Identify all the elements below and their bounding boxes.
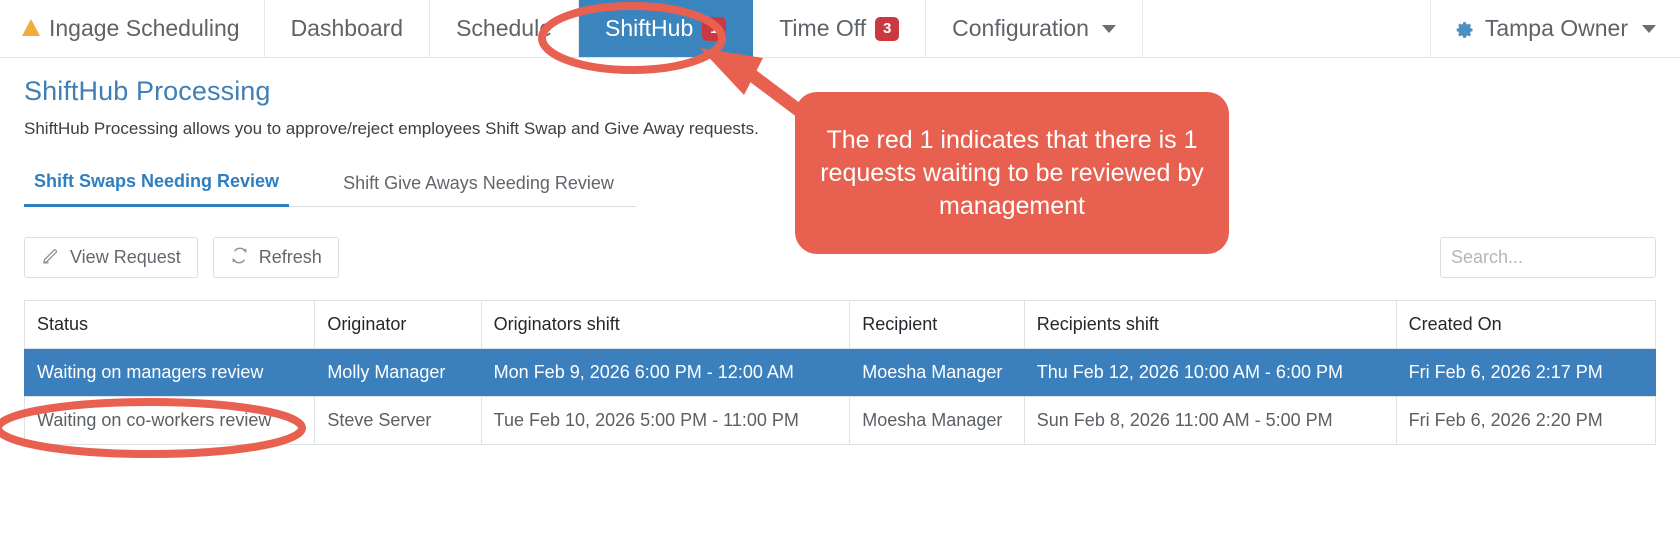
account-menu[interactable]: Tampa Owner bbox=[1431, 0, 1680, 57]
cell-originators-shift: Mon Feb 9, 2026 6:00 PM - 12:00 AM bbox=[481, 349, 850, 397]
column-header-status[interactable]: Status bbox=[25, 301, 315, 349]
cell-originator: Steve Server bbox=[315, 397, 481, 445]
pencil-icon bbox=[41, 246, 60, 270]
cell-status: Waiting on managers review bbox=[25, 349, 315, 397]
shifthub-count-badge: 1 bbox=[702, 17, 726, 41]
nav-label-shifthub: ShiftHub bbox=[605, 15, 693, 42]
nav-item-dashboard[interactable]: Dashboard bbox=[265, 0, 431, 57]
cell-created-on: Fri Feb 6, 2026 2:20 PM bbox=[1396, 397, 1655, 445]
requests-table-wrapper: Status Originator Originators shift Reci… bbox=[24, 300, 1656, 445]
navbar-spacer bbox=[1143, 0, 1431, 57]
view-request-label: View Request bbox=[70, 247, 181, 268]
cell-recipients-shift: Sun Feb 8, 2026 11:00 AM - 5:00 PM bbox=[1024, 397, 1396, 445]
top-navbar: Ingage Scheduling Dashboard Schedule Shi… bbox=[0, 0, 1680, 58]
nav-item-time-off[interactable]: Time Off 3 bbox=[753, 0, 926, 57]
table-header-row: Status Originator Originators shift Reci… bbox=[25, 301, 1656, 349]
cell-recipients-shift: Thu Feb 12, 2026 10:00 AM - 6:00 PM bbox=[1024, 349, 1396, 397]
nav-item-configuration[interactable]: Configuration bbox=[926, 0, 1143, 57]
account-label: Tampa Owner bbox=[1485, 15, 1628, 42]
chevron-down-icon bbox=[1642, 25, 1656, 33]
nav-label-configuration: Configuration bbox=[952, 15, 1089, 42]
column-header-originators-shift[interactable]: Originators shift bbox=[481, 301, 850, 349]
table-row[interactable]: Waiting on co-workers review Steve Serve… bbox=[25, 397, 1656, 445]
tab-label: Shift Give Aways Needing Review bbox=[343, 173, 614, 193]
tab-label: Shift Swaps Needing Review bbox=[34, 171, 279, 191]
page-title: ShiftHub Processing bbox=[24, 76, 1656, 107]
refresh-button[interactable]: Refresh bbox=[213, 237, 339, 278]
refresh-icon bbox=[230, 246, 249, 270]
cell-created-on: Fri Feb 6, 2026 2:17 PM bbox=[1396, 349, 1655, 397]
column-header-recipient[interactable]: Recipient bbox=[850, 301, 1025, 349]
content-tabs: Shift Swaps Needing Review Shift Give Aw… bbox=[24, 165, 636, 207]
nav-label-schedule: Schedule bbox=[456, 15, 552, 42]
cell-status: Waiting on co-workers review bbox=[25, 397, 315, 445]
refresh-label: Refresh bbox=[259, 247, 322, 268]
cell-originator: Molly Manager bbox=[315, 349, 481, 397]
brand-label: Ingage Scheduling bbox=[49, 15, 240, 42]
column-header-originator[interactable]: Originator bbox=[315, 301, 481, 349]
table-toolbar: View Request Refresh bbox=[24, 237, 1656, 278]
gear-icon bbox=[1455, 19, 1475, 39]
time-off-count-badge: 3 bbox=[875, 17, 899, 41]
brand-logo[interactable]: Ingage Scheduling bbox=[0, 0, 265, 57]
nav-item-shifthub[interactable]: ShiftHub 1 bbox=[579, 0, 753, 57]
view-request-button[interactable]: View Request bbox=[24, 237, 198, 278]
cell-recipient: Moesha Manager bbox=[850, 397, 1025, 445]
table-header: Status Originator Originators shift Reci… bbox=[25, 301, 1656, 349]
column-header-created-on[interactable]: Created On bbox=[1396, 301, 1655, 349]
table-body: Waiting on managers review Molly Manager… bbox=[25, 349, 1656, 445]
cell-recipient: Moesha Manager bbox=[850, 349, 1025, 397]
column-header-recipients-shift[interactable]: Recipients shift bbox=[1024, 301, 1396, 349]
table-row[interactable]: Waiting on managers review Molly Manager… bbox=[25, 349, 1656, 397]
tab-shift-swaps-needing-review[interactable]: Shift Swaps Needing Review bbox=[24, 165, 289, 207]
nav-label-dashboard: Dashboard bbox=[291, 15, 404, 42]
nav-label-time-off: Time Off bbox=[779, 15, 866, 42]
tab-shift-give-aways-needing-review[interactable]: Shift Give Aways Needing Review bbox=[333, 167, 624, 206]
page-description: ShiftHub Processing allows you to approv… bbox=[24, 119, 1656, 139]
triangle-logo-icon bbox=[22, 19, 40, 36]
requests-table: Status Originator Originators shift Reci… bbox=[24, 300, 1656, 445]
chevron-down-icon bbox=[1102, 25, 1116, 33]
search-input[interactable] bbox=[1440, 237, 1656, 278]
page-content: ShiftHub Processing ShiftHub Processing … bbox=[0, 76, 1680, 445]
cell-originators-shift: Tue Feb 10, 2026 5:00 PM - 11:00 PM bbox=[481, 397, 850, 445]
nav-item-schedule[interactable]: Schedule bbox=[430, 0, 579, 57]
